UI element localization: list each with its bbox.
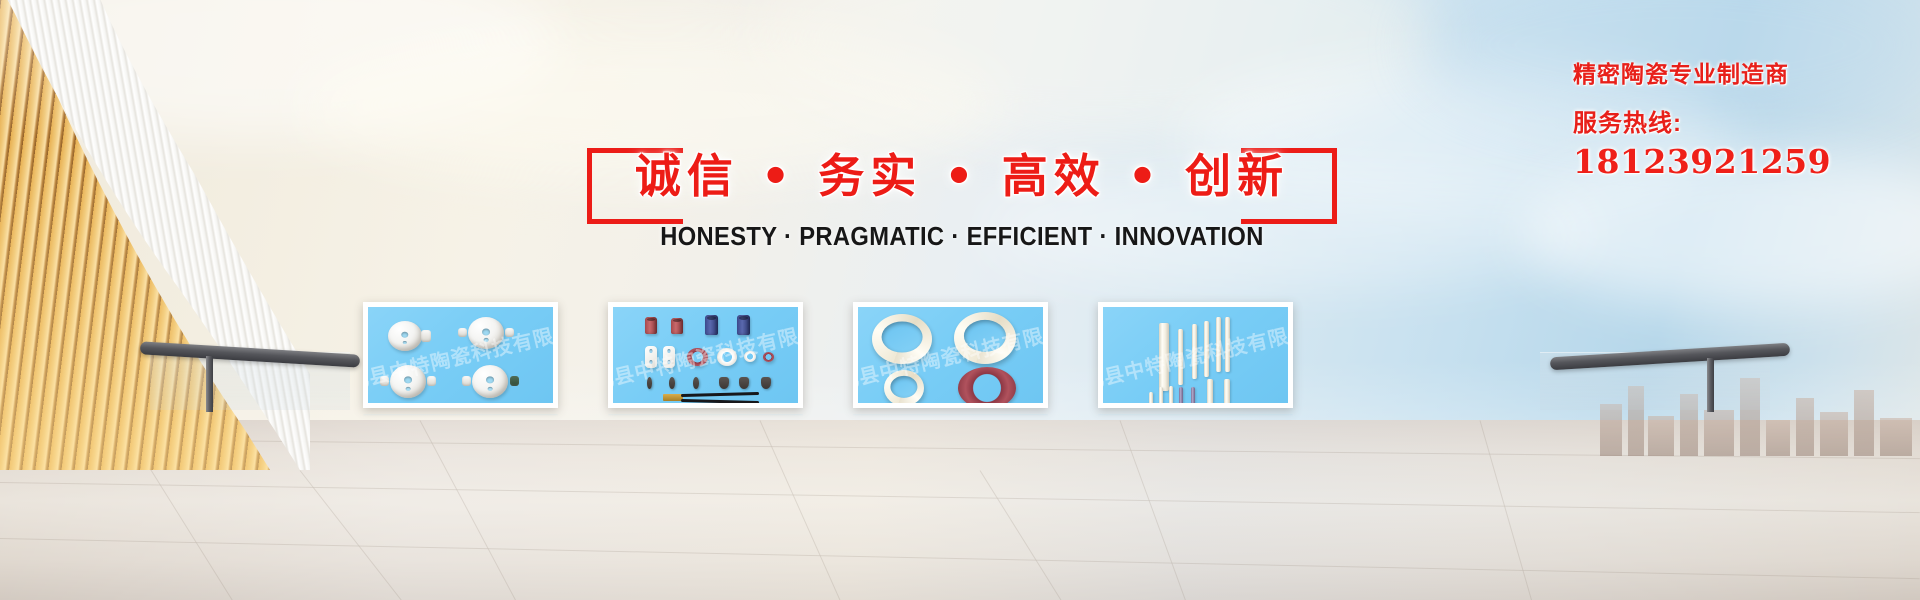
contact-block: 精密陶瓷专业制造商 服务热线: 18123921259 [1573,55,1903,181]
ceramic-rod-3 [1192,324,1197,379]
product-panel-ceramic-rods[interactable]: 新化县中特陶瓷科技有限公司 [1098,302,1293,408]
ceramic-rod-short-3 [1169,386,1173,403]
panel-1-floor-reflection [363,414,558,478]
lamp-holder-1 [388,321,422,351]
ceramic-rod-2 [1178,329,1183,385]
hotline-label: 服务热线: [1573,103,1903,138]
panel-3-inner: 新化县中特陶瓷科技有限公司 [858,307,1043,403]
hotline-phone-number[interactable]: 18123921259 [1573,142,1903,181]
insert-cap-2 [739,377,749,389]
lamp-holder-3 [390,365,426,398]
lamp-holder-4 [472,365,508,398]
sleeve-blue-1 [705,315,718,335]
insert-oval-3 [693,377,699,389]
ceramic-rod-6 [1225,317,1230,372]
ceramic-plate-1 [645,346,657,368]
bead-maroon [763,352,774,362]
lamp-holder-2 [468,317,504,349]
wire-connector-brass [663,394,683,401]
insert-oval-1 [647,377,652,389]
product-banner: 诚信 • 务实 • 高效 • 创新 HONESTY · PRAGMATIC · … [0,0,1920,600]
panel-2-floor-reflection [608,414,803,478]
ceramic-rod-short-1 [1149,392,1153,403]
ceramic-ring-maroon-flat [958,367,1016,403]
bead-white [744,351,756,362]
panel-4-inner: 新化县中特陶瓷科技有限公司 [1103,307,1288,403]
ring-white-small [717,348,737,366]
sleeve-red-1 [645,317,657,334]
ceramic-rod-violet-1 [1179,387,1183,403]
ceramic-rod-short-2 [1159,387,1163,403]
insert-cap-1 [719,377,729,389]
wire-lead-1 [681,392,759,397]
panel-1-inner: 新化县中特陶瓷科技有限公司 [368,307,553,403]
slogan-block: 诚信 • 务实 • 高效 • 创新 HONESTY · PRAGMATIC · … [587,148,1337,226]
ceramic-rod-short-4 [1207,379,1213,403]
ceramic-ring-large-2 [954,312,1016,364]
handrail-post-left [206,356,213,412]
ceramic-rod-short-5 [1224,379,1230,403]
wire-lead-2 [681,399,759,403]
sleeve-red-2 [671,318,683,334]
ceramic-ring-large-1 [872,314,932,364]
slogan-english: HONESTY · PRAGMATIC · EFFICIENT · INNOVA… [613,223,1311,252]
panel-3-floor-reflection [853,414,1048,478]
slogan-chinese: 诚信 • 务实 • 高效 • 创新 [587,140,1337,206]
product-panel-ceramic-lamp-holders[interactable]: 新化县中特陶瓷科技有限公司 [363,302,558,408]
ceramic-rod-thick [1159,323,1169,391]
panel-4-floor-reflection [1098,414,1293,478]
handrail-post-right [1707,358,1714,412]
ceramic-rod-5 [1216,317,1221,372]
ceramic-plate-2 [663,346,675,368]
ring-maroon-small [687,348,708,366]
sleeve-blue-2 [737,315,750,335]
company-tagline: 精密陶瓷专业制造商 [1573,55,1903,89]
ceramic-rod-violet-2 [1191,387,1195,403]
insert-oval-2 [669,377,675,389]
ceramic-rod-4 [1204,321,1209,377]
insert-cap-3 [761,377,771,389]
product-panel-ceramic-rings[interactable]: 新化县中特陶瓷科技有限公司 [853,302,1048,408]
ceramic-ring-small [884,370,924,403]
product-panel-ceramic-connectors[interactable]: 新化县中特陶瓷科技有限公司 [608,302,803,408]
panel-2-inner: 新化县中特陶瓷科技有限公司 [613,307,798,403]
